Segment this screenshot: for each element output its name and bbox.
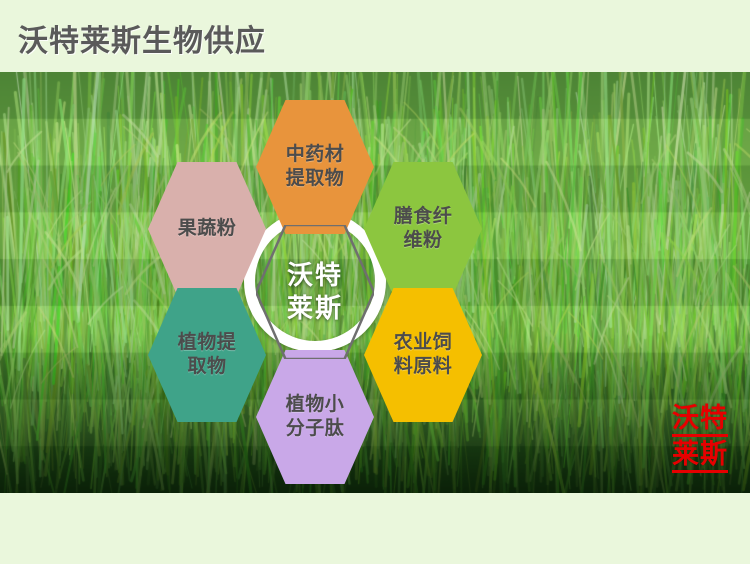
- product-hexagon-cluster: 果蔬粉 中药材 提取物 膳食纤 维粉 农业饲 料原料 植物小 分子肽 植物提 取…: [140, 82, 490, 482]
- page-title: 沃特莱斯生物供应: [18, 16, 266, 60]
- hexagon-brand-center[interactable]: 沃特 莱斯: [256, 225, 374, 359]
- watermark-line-2: 莱斯: [672, 439, 728, 473]
- hexagon-agricultural-feed[interactable]: 农业饲 料原料: [364, 288, 482, 422]
- hexagon-plant-extract[interactable]: 植物提 取物: [148, 288, 266, 422]
- footer-bar: [0, 493, 750, 564]
- hexagon-label: 植物提 取物: [178, 331, 237, 380]
- slide-page: 沃特莱斯生物供应 果蔬粉 中药材 提取物 膳食纤 维粉 农业饲 料原料 植物小 …: [0, 0, 750, 564]
- brand-name-label: 沃特 莱斯: [287, 259, 343, 325]
- brand-watermark: 沃特 莱斯: [672, 403, 728, 475]
- header-bar: 沃特莱斯生物供应: [0, 0, 750, 72]
- hero-photo: 果蔬粉 中药材 提取物 膳食纤 维粉 农业饲 料原料 植物小 分子肽 植物提 取…: [0, 72, 750, 493]
- hexagon-label: 膳食纤 维粉: [394, 205, 453, 254]
- hexagon-label: 植物小 分子肽: [286, 393, 345, 442]
- hexagon-label: 农业饲 料原料: [394, 331, 453, 380]
- hexagon-plant-peptide[interactable]: 植物小 分子肽: [256, 350, 374, 484]
- hexagon-label: 果蔬粉: [178, 217, 237, 241]
- watermark-line-1: 沃特: [672, 403, 728, 437]
- hexagon-label: 中药材 提取物: [286, 143, 345, 192]
- hexagon-herbal-extract[interactable]: 中药材 提取物: [256, 100, 374, 234]
